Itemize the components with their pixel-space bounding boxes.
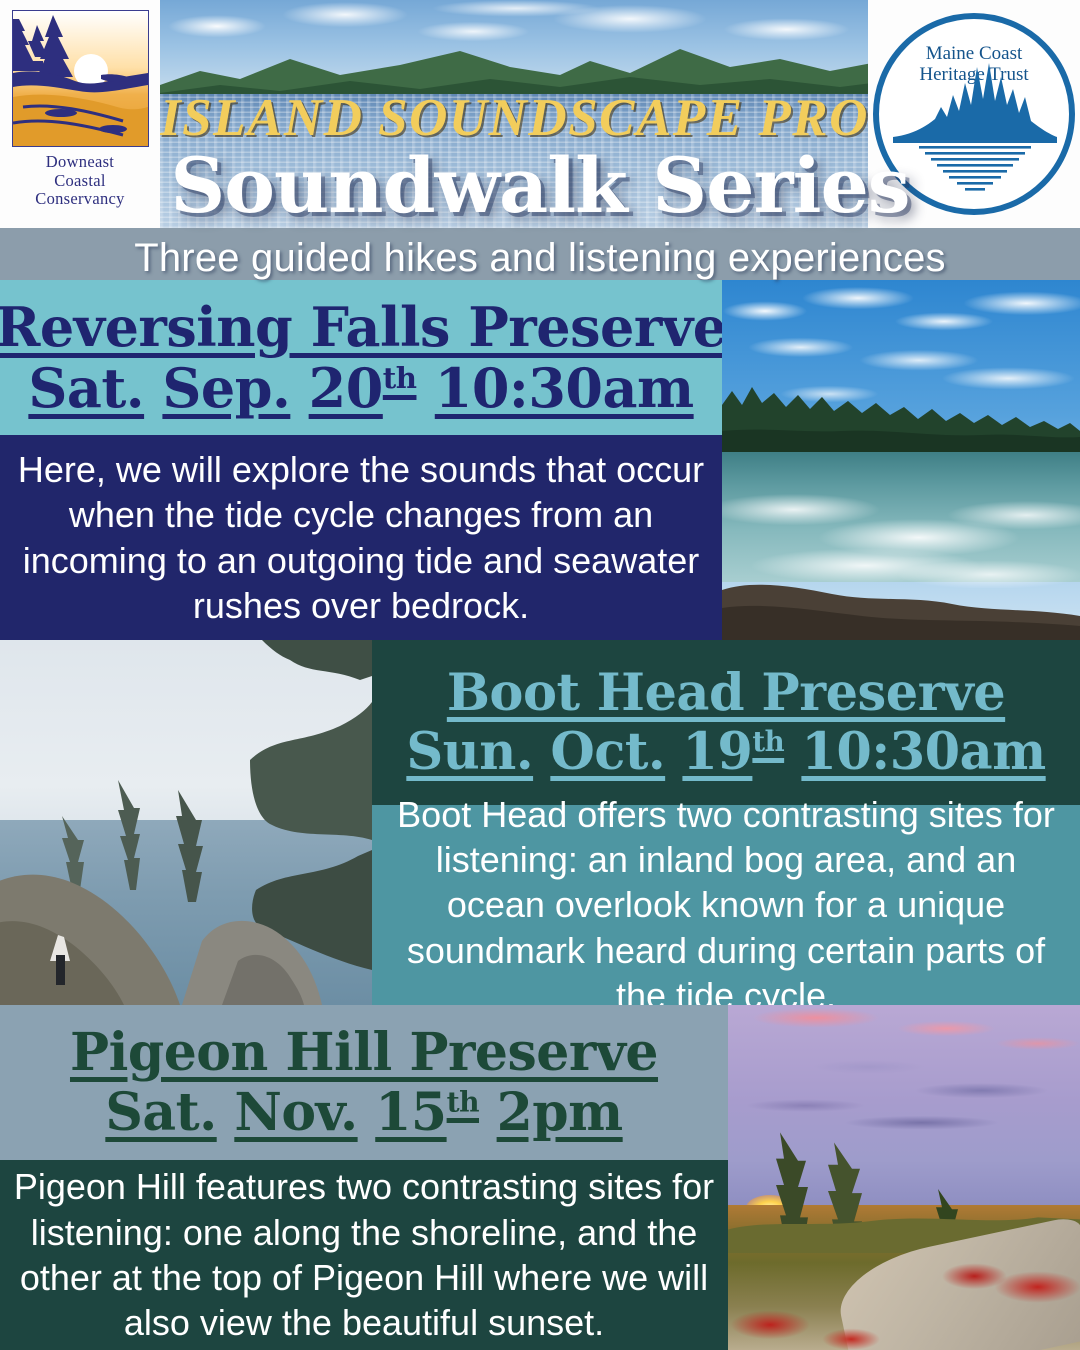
rf-treeline-icon [722,375,1080,459]
photo-pigeon-hill [728,1005,1080,1350]
dcc-logo-line-1: Downeast [35,153,124,172]
event-datetime-1: Sat. Sep. 20th 10:30am [28,358,693,418]
event-ordinal-1: th [383,361,417,395]
dcc-sunset-artwork-icon [12,10,149,147]
poster-subtitle: Three guided hikes and listening experie… [0,236,1080,281]
dcc-logo-line-3: Conservancy [35,190,124,209]
bh-shore-rocks-icon [162,845,372,1005]
event-day-2: Sun. [406,722,533,782]
event-month-3: Nov. [234,1082,357,1143]
event-ordinal-3: th [447,1085,479,1118]
event-preserve-name-1: Reversing Falls Preserve [0,297,727,357]
event-month-2: Oct. [550,722,665,782]
event-heading-reversing-falls: Reversing Falls Preserve Sat. Sep. 20th … [0,280,722,435]
event-datetime-3: Sat. Nov. 15th 2pm [105,1083,622,1142]
event-preserve-name-2: Boot Head Preserve [447,664,1005,722]
event-date-3: 15 [375,1082,446,1143]
soundwalk-series-poster: ISLAND SOUNDSCAPE PROJECT [0,0,1080,1350]
event-time-2: 10:30am [801,722,1045,782]
event-description-box-3: Pigeon Hill features two contrasting sit… [0,1160,728,1350]
event-heading-pigeon-hill: Pigeon Hill Preserve Sat. Nov. 15th 2pm [0,1005,728,1160]
event-time-1: 10:30am [435,356,694,420]
ph-red-blueberry-barrens [728,1260,1080,1350]
event-date-1: 20 [309,356,383,420]
dcc-logo-line-2: Coastal [35,172,124,191]
event-description-box-1: Here, we will explore the sounds that oc… [0,435,722,640]
mcht-seal-icon: Maine Coast Heritage Trust [873,13,1075,215]
event-heading-boot-head: Boot Head Preserve Sun. Oct. 19th 10:30a… [372,640,1080,805]
photo-boot-head [0,640,372,1005]
event-day-3: Sat. [105,1082,216,1143]
event-datetime-2: Sun. Oct. 19th 10:30am [406,723,1045,781]
photo-reversing-falls [722,280,1080,640]
event-month-1: Sep. [162,356,290,420]
event-day-1: Sat. [28,356,144,420]
event-description-3: Pigeon Hill features two contrasting sit… [12,1164,716,1345]
event-description-2: Boot Head offers two contrasting sites f… [386,792,1066,1019]
event-time-3: 2pm [497,1082,623,1143]
maine-coast-heritage-trust-logo: Maine Coast Heritage Trust [868,0,1080,228]
downeast-coastal-conservancy-logo: Downeast Coastal Conservancy [0,0,160,228]
event-description-1: Here, we will explore the sounds that oc… [16,447,706,628]
event-date-2: 19 [682,722,752,782]
event-preserve-name-3: Pigeon Hill Preserve [70,1023,658,1082]
rf-bedrock-icon [722,568,1080,640]
poster-header: ISLAND SOUNDSCAPE PROJECT [0,0,1080,228]
project-banner-title: ISLAND SOUNDSCAPE PROJECT [160,88,872,148]
mcht-mountain-reflection-icon [879,19,1069,209]
event-ordinal-2: th [752,726,784,758]
project-banner-image: ISLAND SOUNDSCAPE PROJECT [160,0,872,228]
event-description-box-2: Boot Head offers two contrasting sites f… [372,805,1080,1005]
dcc-logo-text: Downeast Coastal Conservancy [35,153,124,209]
